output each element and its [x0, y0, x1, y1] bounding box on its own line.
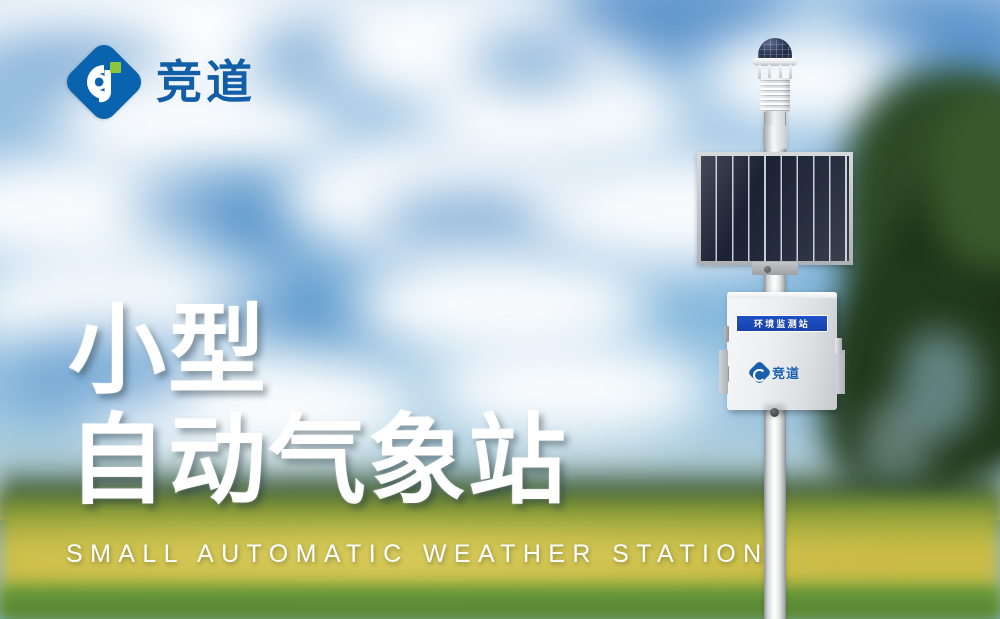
solar-panel-icon — [697, 152, 853, 265]
solar-panel-mount — [752, 262, 798, 275]
brand-logo: 竞道 — [66, 46, 296, 118]
solar-panel-glare — [701, 156, 849, 261]
sensor-mount — [763, 125, 787, 149]
solar-cells — [701, 156, 849, 261]
enclosure-side-wing — [836, 350, 845, 394]
headline-line-1: 小型 — [68, 296, 688, 406]
product-hero-banner: 环境监测站 竞道 竞道 小型 自动气象站 SMALL AU — [0, 0, 1000, 619]
field-foreground — [0, 586, 1000, 619]
headline-line-2: 自动气象站 — [68, 406, 688, 516]
monitoring-station-enclosure: 环境监测站 竞道 — [727, 292, 837, 410]
jingdao-diamond-logo-icon — [66, 44, 142, 120]
enclosure-banner-label: 环境监测站 — [736, 315, 828, 332]
ultrasonic-weather-sensor-icon — [744, 38, 806, 148]
pole-bolt — [770, 408, 779, 417]
jingdao-diamond-logo-icon — [747, 360, 771, 384]
headline-block: 小型 自动气象站 — [68, 296, 688, 516]
enclosure-hinge — [724, 326, 729, 342]
logo-glyph — [66, 44, 142, 120]
brand-name: 竞道 — [156, 59, 256, 105]
radiation-shield-icon — [760, 78, 790, 112]
enclosure-top-edge — [727, 292, 837, 298]
sensor-arms — [757, 65, 793, 79]
subtitle-text: SMALL AUTOMATIC WEATHER STATION — [66, 540, 769, 569]
enclosure-latch — [835, 338, 842, 354]
enclosure-side-wing — [719, 350, 728, 394]
enclosure-brand-label: 竞道 — [772, 363, 800, 382]
solar-panel-bolt — [764, 266, 771, 273]
enclosure-brand-logo: 竞道 — [751, 362, 815, 382]
